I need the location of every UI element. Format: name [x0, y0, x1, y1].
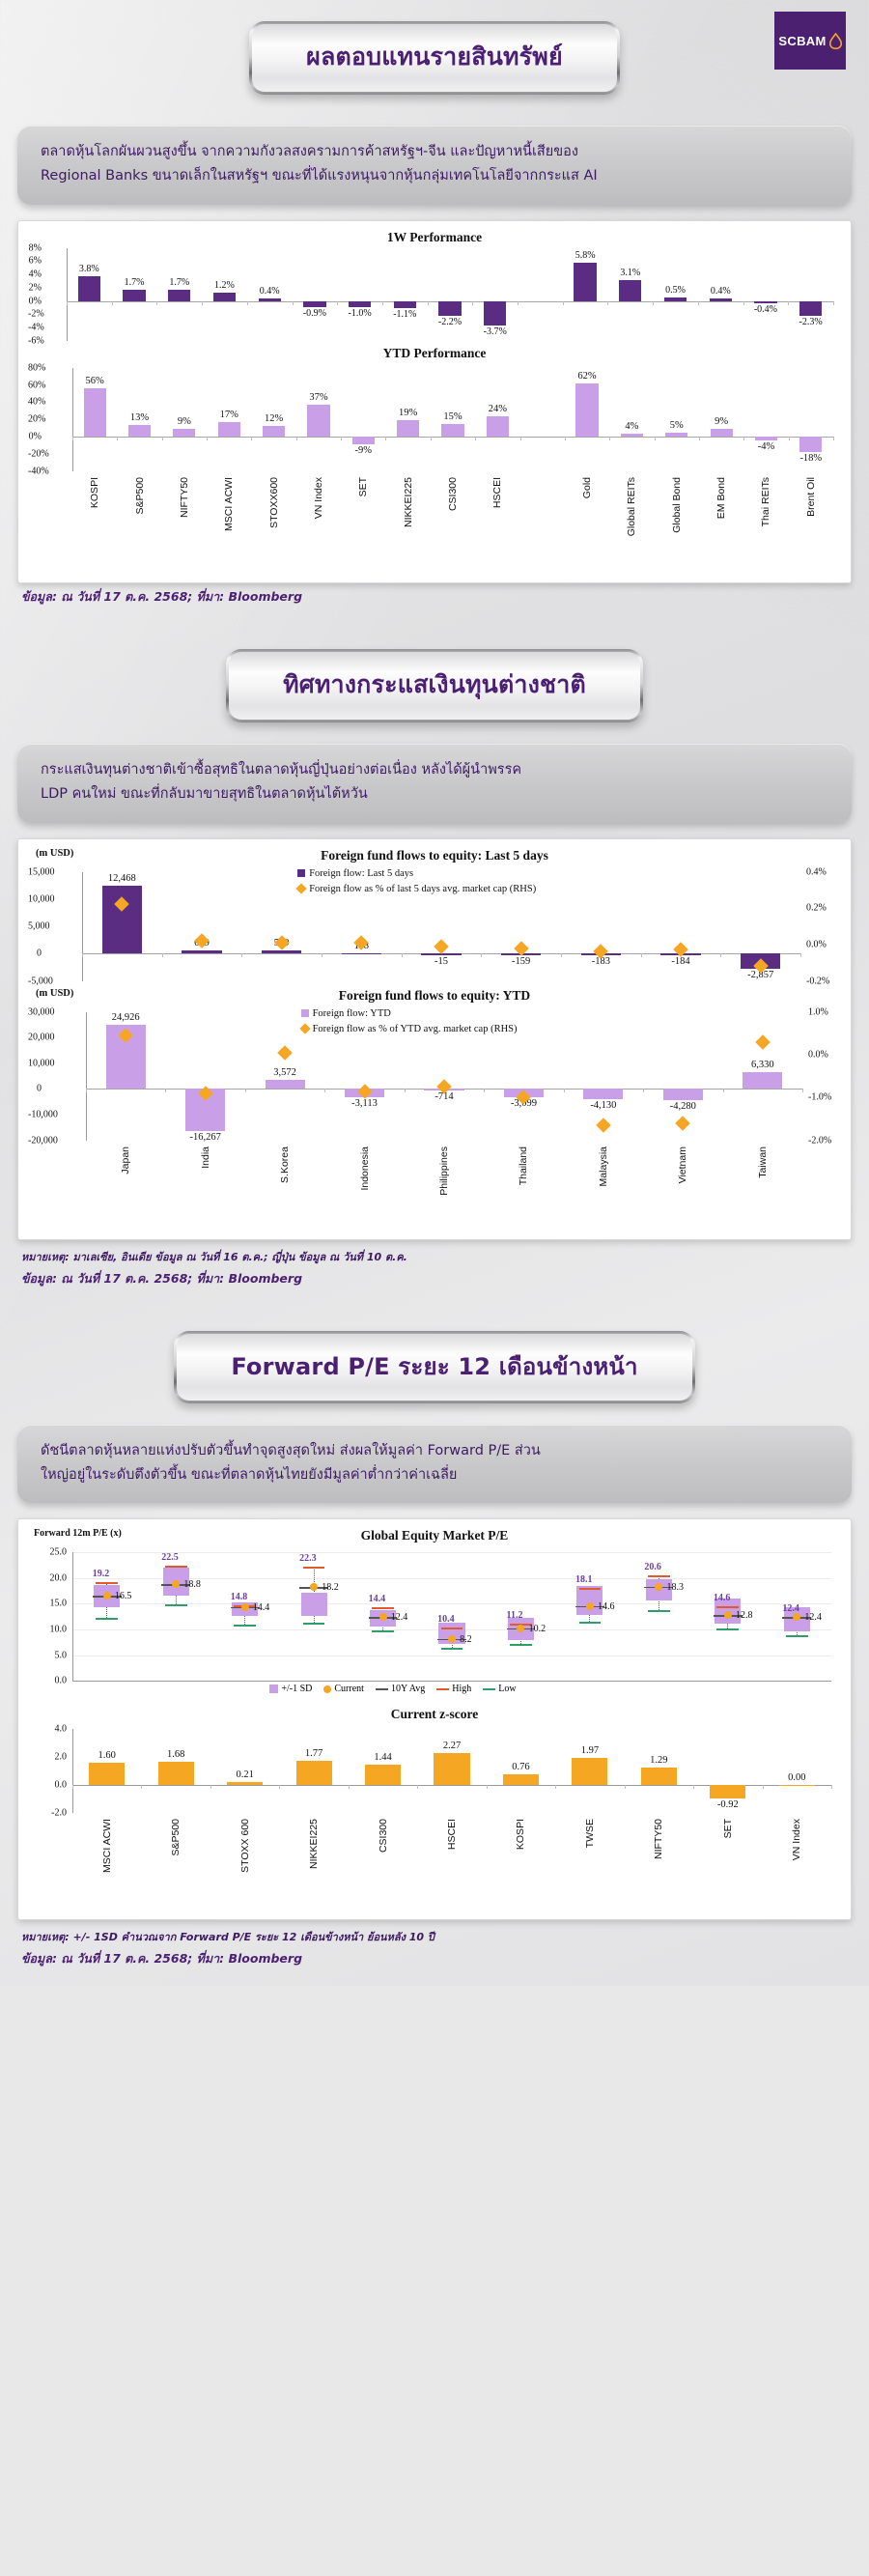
pe-legend: +/-1 SDCurrent10Y AvgHighLow [269, 1684, 516, 1694]
chart-flows-ytd-ytick-0: 30,000 [28, 1006, 47, 1017]
pe-low-4 [372, 1630, 394, 1632]
pe-high-1 [165, 1566, 187, 1568]
chart-perf-1w-yaxis-line [67, 248, 68, 341]
chart-perf-1w-title: 1W Performance [28, 230, 841, 245]
chart-flows-ytd-xlabel-8: Taiwan [757, 1146, 769, 1178]
chart-perf-ytd-barlabel-1: 13% [130, 412, 149, 423]
chart-flows-ytd-diamond-2 [277, 1045, 293, 1061]
chart-perf-1w-bar-8 [438, 301, 461, 316]
chart-flows-5d-tick-0 [82, 953, 83, 957]
chart-perf-ytd-ytick-5: -20% [28, 448, 47, 459]
chart-perf-1w-tick-8 [428, 301, 429, 305]
chart-perf-1w-bar-6 [349, 301, 371, 308]
section1-chart-card: 1W Performance8%6%4%2%0%-2%-4%-6%3.8%1.7… [17, 220, 852, 583]
chart-flows-ytd-xlabel-5: Thailand [518, 1146, 529, 1185]
chart-flows-5d-y2tick-0: 0.4% [806, 866, 827, 877]
chart-flows-5d-tick-5 [481, 953, 482, 957]
chart-perf-ytd-barlabel-9: 24% [489, 404, 507, 414]
chart-perf-ytd-ytick-0: 80% [28, 362, 47, 373]
pe-legend-item-0: +/-1 SD [269, 1684, 312, 1694]
chart-perf-ytd-xlabel-14: EM Bond [715, 477, 727, 519]
chart-perf-1w-barlabel-15: -0.4% [754, 304, 777, 315]
chart-perf-1w-barlabel-2: 1.7% [169, 277, 189, 288]
chart-perf-1w-bar-15 [754, 301, 776, 304]
flame-icon [829, 33, 842, 49]
chart-flows-5d-tick-6 [561, 953, 562, 957]
chart-perf-1w-tick-0 [67, 301, 68, 305]
pe-current-label-5: 8.2 [460, 1634, 472, 1645]
chart-perf-ytd-bar-9 [487, 416, 509, 437]
chart-perf-ytd-bar-12 [621, 434, 643, 438]
chart-perf-ytd-barlabel-16: -18% [799, 453, 822, 464]
pe-high-label-1: 22.5 [161, 1552, 179, 1563]
chart-perf-ytd-tick-14 [699, 437, 700, 440]
chart-perf-ytd-barlabel-11: 62% [577, 371, 596, 382]
chart-flows-ytd-tick-7 [643, 1089, 644, 1092]
pe-low-7 [579, 1622, 602, 1624]
chart-perf-1w-bar-9 [484, 301, 506, 326]
pe-low-5 [441, 1648, 463, 1650]
pe-low-6 [510, 1644, 532, 1646]
pe-current-4 [379, 1613, 387, 1621]
chart-flows-ytd-barlabel-2: 3,572 [273, 1067, 296, 1078]
chart-flows-5d-legend-marker-0 [297, 869, 305, 877]
pe-legend-item-3: High [436, 1684, 471, 1694]
chart-flows-ytd-diamond-6 [596, 1118, 611, 1133]
chart-perf-1w-bar-7 [394, 301, 416, 309]
chart-global-equity-pe: Forward 12m P/E (x)Global Equity Market … [28, 1527, 841, 1706]
chart-perf-1w-ytick-2: 4% [28, 269, 47, 280]
pe-high-label-9: 14.6 [714, 1593, 731, 1603]
z-ytick-0: 4.0 [28, 1724, 67, 1735]
chart-perf-1w-tick-12 [607, 301, 608, 305]
pe-grid-4 [72, 1656, 831, 1656]
chart-perf-ytd-xlabel-4: STOXX600 [268, 477, 280, 528]
z-tick-3 [279, 1785, 280, 1789]
chart-perf-1w-tick-13 [653, 301, 654, 305]
z-xlabel-3: NIKKEI225 [308, 1819, 320, 1869]
chart-perf-1w-tick-7 [382, 301, 383, 305]
chart-perf-ytd-tick-13 [655, 437, 656, 440]
chart-perf-1w-barlabel-8: -2.2% [438, 317, 462, 327]
chart-perf-1w-tick-1 [112, 301, 113, 305]
chart-flows-5d-yaxis-line [82, 872, 83, 981]
chart-perf-1w-tick-2 [156, 301, 157, 305]
pe-high-label-6: 11.2 [507, 1610, 523, 1621]
z-barlabel-3: 1.77 [305, 1748, 322, 1759]
chart-flows-5d-barlabel-4: -15 [434, 956, 448, 967]
section3-intro: ดัชนีตลาดหุ้นหลายแห่งปรับตัวขึ้นทำจุดสูง… [17, 1425, 852, 1504]
pe-current-7 [586, 1602, 594, 1610]
pe-legend-label-2: 10Y Avg [391, 1684, 425, 1694]
chart-flows-ytd-legend-marker-1 [299, 1023, 310, 1033]
chart-flows-ytd-tick-3 [324, 1089, 325, 1092]
chart-perf-ytd-barlabel-5: 37% [309, 392, 327, 403]
chart-perf-1w-barlabel-9: -3.7% [484, 326, 507, 337]
chart-perf-ytd-barlabel-8: 15% [443, 411, 462, 422]
section3-source: ข้อมูล: ณ วันที่ 17 ต.ค. 2568; ที่มา: Bl… [21, 1949, 848, 1968]
pe-legend-item-4: Low [483, 1684, 516, 1694]
section1-intro-line2: Regional Banks ขนาดเล็กในสหรัฐฯ ขณะที่ได… [41, 164, 828, 188]
chart-perf-ytd-xlabel-5: VN Index [313, 477, 324, 519]
chart-perf-ytd-ytick-3: 20% [28, 414, 47, 425]
chart-perf-ytd-xlabel-6: SET [357, 477, 369, 496]
chart-perf-ytd-xlabel-8: CSI300 [447, 477, 459, 511]
chart-flows-ytd-tick-5 [484, 1089, 485, 1092]
pe-box-3 [301, 1593, 327, 1616]
chart-flows-5d-tick-4 [402, 953, 403, 957]
chart-flows-ytd-y2tick-1: 0.0% [808, 1049, 828, 1060]
z-tick-6 [487, 1785, 488, 1789]
chart-flows-ytd-tick-4 [405, 1089, 406, 1092]
chart-flows-5d-diamond-4 [434, 939, 449, 954]
chart-perf-1w-ytick-5: -2% [28, 309, 47, 320]
chart-flows-ytd-xlabel-0: Japan [120, 1146, 131, 1175]
chart-perf-ytd-xlabel-7: NIKKEI225 [403, 477, 414, 527]
chart-perf-1w-bar-13 [664, 297, 687, 300]
chart-flows-ytd-tick-8 [723, 1089, 724, 1092]
pe-ytick-2: 15.0 [28, 1599, 67, 1609]
pe-ytick-0: 25.0 [28, 1547, 67, 1558]
pe-ytick-5: 0.0 [28, 1676, 67, 1686]
chart-perf-ytd-tick-15 [743, 437, 744, 440]
pe-legend-label-1: Current [334, 1684, 364, 1694]
z-tick-8 [625, 1785, 626, 1789]
chart-flows-ytd-diamond-8 [755, 1034, 771, 1050]
chart-flows-5d-tick-9 [800, 953, 801, 957]
chart-flows-5d-tick-8 [720, 953, 721, 957]
z-xlabel-4: CSI300 [378, 1819, 389, 1853]
chart-flows-ytd-y2tick-2: -1.0% [808, 1092, 831, 1103]
chart-perf-ytd-bar-15 [755, 437, 777, 440]
z-xlabel-7: TWSE [584, 1819, 596, 1848]
z-bar-6 [503, 1774, 539, 1785]
pe-current-label-4: 12.4 [391, 1612, 408, 1623]
chart-flows-ytd-bar-7 [663, 1089, 703, 1099]
chart-perf-1w-barlabel-14: 0.4% [711, 286, 731, 297]
chart-perf-1w-bar-14 [710, 298, 732, 301]
chart-flows-ytd-yaxis-line [86, 1012, 87, 1141]
pe-current-label-10: 12.4 [804, 1612, 822, 1623]
chart-perf-ytd-xlabel-9: HSCEI [491, 477, 503, 508]
z-barlabel-9: -0.92 [717, 1799, 739, 1810]
z-bar-5 [434, 1753, 469, 1785]
chart-flows-ytd-tick-0 [86, 1089, 87, 1092]
chart-flows-ytd-xlabel-6: Malaysia [598, 1146, 609, 1186]
pe-legend-marker-0 [269, 1684, 278, 1693]
chart-flows-ytd-barlabel-7: -4,280 [670, 1101, 696, 1112]
section2-title: ทิศทางกระแสเงินทุนต่างชาติ [283, 665, 586, 704]
z-tick-11 [831, 1785, 832, 1789]
chart-perf-ytd-xlabel-16: Brent Oil [805, 477, 817, 517]
chart-perf-ytd-xlabel-0: KOSPI [89, 477, 100, 508]
pe-legend-marker-4 [483, 1688, 495, 1690]
chart-perf-ytd-tick-8 [431, 437, 432, 440]
chart-perf-ytd-xlabel-15: Thai REITs [760, 477, 771, 526]
pe-current-9 [724, 1611, 732, 1619]
chart-perf-1w-bar-3 [213, 293, 236, 300]
chart-perf-1w-barlabel-3: 1.2% [214, 280, 235, 291]
pe-current-label-1: 18.8 [183, 1579, 201, 1590]
pe-high-label-8: 20.6 [644, 1562, 661, 1572]
pe-current-label-0: 16.5 [115, 1591, 132, 1601]
chart-perf-ytd-bar-16 [799, 437, 822, 452]
chart-perf-1w-barlabel-1: 1.7% [125, 277, 145, 288]
pe-high-label-10: 12.4 [782, 1603, 799, 1614]
chart-flows-5d-y2tick-2: 0.0% [806, 939, 827, 949]
chart-flows-ytd-bar-2 [266, 1080, 305, 1090]
z-tick-0 [72, 1785, 73, 1789]
pe-high-9 [716, 1606, 739, 1608]
section2-note: หมายเหตุ: มาเลเซีย, อินเดีย ข้อมูล ณ วัน… [21, 1248, 848, 1265]
chart-perf-1w-barlabel-5: -0.9% [303, 308, 326, 319]
chart-perf-ytd-bar-0 [84, 388, 106, 437]
chart-perf-ytd-ytick-4: 0% [28, 432, 47, 442]
chart-flows-ytd-tick-9 [802, 1089, 803, 1092]
chart-perf-ytd-tick-2 [162, 437, 163, 440]
z-bar-1 [158, 1762, 194, 1785]
chart-flows-ytd-ytick-4: -10,000 [28, 1109, 47, 1119]
chart-perf-ytd-tick-1 [117, 437, 118, 440]
pe-high-label-0: 19.2 [93, 1569, 110, 1579]
chart-perf-1w-ytick-3: 2% [28, 282, 47, 293]
chart-perf-ytd-barlabel-4: 12% [265, 413, 283, 424]
chart-flows-ytd-tick-1 [165, 1089, 166, 1092]
chart-flows-5d-ytick-3: 0 [28, 948, 47, 959]
section1-title: ผลตอบแทนรายสินทรัพย์ [306, 38, 563, 76]
chart-perf-1w-tick-14 [698, 301, 699, 305]
chart-perf-ytd-bar-1 [128, 425, 151, 437]
pe-high-5 [441, 1628, 463, 1629]
pe-yaxis-line [72, 1552, 73, 1681]
chart-perf-ytd-barlabel-14: 9% [715, 416, 728, 427]
z-barlabel-1: 1.68 [167, 1749, 184, 1760]
z-bar-2 [227, 1782, 263, 1785]
chart-perf-ytd-tick-0 [72, 437, 73, 440]
z-barlabel-2: 0.21 [236, 1769, 253, 1780]
chart-flows-ytd-xlabel-1: India [200, 1146, 211, 1169]
section1-title-plaque: ผลตอบแทนรายสินทรัพย์ [249, 21, 620, 95]
chart-flows-5d-ytick-0: 15,000 [28, 866, 47, 877]
pe-current-label-3: 18.2 [322, 1582, 339, 1593]
chart-perf-1w-bar-2 [168, 290, 190, 301]
chart-flows-ytd-legend-1: Foreign flow as % of YTD avg. market cap… [301, 1024, 518, 1034]
chart-perf-1w-ytick-6: -4% [28, 323, 47, 333]
chart-perf-1w-barlabel-11: 5.8% [575, 250, 596, 261]
chart-perf-ytd-barlabel-0: 56% [86, 376, 104, 386]
z-barlabel-5: 2.27 [443, 1741, 461, 1751]
section1-intro: ตลาดหุ้นโลกผันผวนสูงขึ้น จากความกังวลสงค… [17, 126, 852, 205]
section2-intro-line1: กระแสเงินทุนต่างชาติเข้าซื้อสุทธิในตลาดห… [41, 758, 828, 782]
chart-flows-ytd-xlabel-7: Vietnam [677, 1146, 688, 1183]
chart-perf-ytd-tick-3 [207, 437, 208, 440]
z-bar-7 [572, 1758, 607, 1786]
pe-current-5 [448, 1635, 456, 1643]
chart-perf-1w-bar-4 [259, 298, 281, 301]
chart-perf-ytd-barlabel-2: 9% [178, 416, 191, 427]
chart-flows-ytd-barlabel-6: -4,130 [590, 1100, 616, 1111]
z-bar-8 [641, 1768, 677, 1786]
chart-flows-ytd-legend-label-1: Foreign flow as % of YTD avg. market cap… [313, 1024, 518, 1034]
chart-flows-ytd-xlabel-4: Philippines [438, 1146, 450, 1196]
z-ytick-3: -2.0 [28, 1808, 67, 1819]
chart-perf-1w-barlabel-6: -1.0% [348, 308, 371, 319]
pe-low-2 [234, 1625, 256, 1627]
chart-perf-ytd-bar-7 [397, 420, 419, 437]
section2-intro: กระแสเงินทุนต่างชาติเข้าซื้อสุทธิในตลาดห… [17, 744, 852, 823]
chart-flows-5d-title: Foreign fund flows to equity: Last 5 day… [28, 848, 841, 863]
pe-low-1 [165, 1604, 187, 1606]
section3-title: Forward P/E ระยะ 12 เดือนข้างหน้า [231, 1347, 637, 1385]
chart-flows-5d-ytick-4: -5,000 [28, 976, 47, 986]
pe-legend-marker-1 [323, 1685, 331, 1693]
chart-perf-ytd-yaxis-line [72, 368, 73, 471]
pe-ytick-1: 20.0 [28, 1572, 67, 1583]
chart-flows-ytd-legend-label-0: Foreign flow: YTD [313, 1008, 391, 1019]
chart-flows-ytd-title: Foreign fund flows to equity: YTD [28, 988, 841, 1004]
z-tick-1 [141, 1785, 142, 1789]
chart-perf-ytd-xlabel-12: Global REITs [626, 477, 637, 536]
pe-high-7 [579, 1588, 602, 1590]
section3-intro-line1: ดัชนีตลาดหุ้นหลายแห่งปรับตัวขึ้นทำจุดสูง… [41, 1439, 828, 1463]
pe-current-label-6: 10.2 [529, 1624, 547, 1634]
chart-flows-5d-ytick-1: 10,000 [28, 893, 47, 904]
chart-perf-ytd-tick-4 [251, 437, 252, 440]
z-tick-10 [763, 1785, 764, 1789]
chart-ytd-performance: YTD Performance80%60%40%20%0%-20%-40%56%… [28, 345, 841, 577]
chart-perf-1w-ytick-0: 8% [28, 242, 47, 253]
section3-intro-line2: ใหญ่อยู่ในระดับตึงตัวขึ้น ขณะที่ตลาดหุ้น… [41, 1463, 828, 1487]
pe-legend-marker-2 [376, 1688, 388, 1690]
chart-flows-ytd-diamond-7 [676, 1116, 691, 1131]
chart-perf-1w-bar-0 [78, 276, 100, 301]
chart-flows-ytd-ytick-2: 10,000 [28, 1058, 47, 1068]
pe-legend-label-4: Low [498, 1684, 516, 1694]
pe-current-label-2: 14.4 [253, 1602, 270, 1613]
chart-flows-ytd-y2tick-3: -2.0% [808, 1135, 831, 1146]
chart-perf-ytd-tick-6 [341, 437, 342, 440]
chart-flows-5d-legend-marker-1 [296, 883, 307, 893]
chart-perf-1w-ytick-1: 6% [28, 256, 47, 267]
chart-foreign-flows-ytd: (m USD)Foreign fund flows to equity: YTD… [28, 987, 841, 1233]
chart-perf-ytd-ytick-6: -40% [28, 466, 47, 476]
chart-perf-ytd-ytick-2: 40% [28, 397, 47, 408]
chart-flows-ytd-xlabel-3: Indonesia [359, 1146, 371, 1191]
pe-high-label-3: 22.3 [299, 1553, 317, 1564]
chart-perf-1w-ytick-4: 0% [28, 296, 47, 306]
pe-low-3 [303, 1623, 325, 1625]
pe-current-label-8: 18.3 [667, 1582, 685, 1593]
chart-flows-5d-y2tick-1: 0.2% [806, 903, 827, 914]
z-tick-7 [555, 1785, 556, 1789]
section2-title-plaque: ทิศทางกระแสเงินทุนต่างชาติ [226, 649, 643, 722]
chart-perf-1w-tick-10 [518, 301, 519, 305]
chart-flows-ytd-legend-marker-0 [301, 1009, 309, 1017]
infographic-page: SCBAM ผลตอบแทนรายสินทรัพย์ ตลาดหุ้นโลกผั… [0, 0, 869, 1986]
header-bar: SCBAM ผลตอบแทนรายสินทรัพย์ [0, 0, 869, 104]
chart-flows-ytd-ytick-1: 20,000 [28, 1033, 47, 1043]
z-barlabel-10: 0.00 [788, 1772, 805, 1783]
section3-title-plaque: Forward P/E ระยะ 12 เดือนข้างหน้า [174, 1331, 694, 1403]
chart-current-zscore: Current z-score4.02.00.0-2.01.60MSCI ACW… [28, 1706, 841, 1913]
chart-perf-ytd-bar-11 [575, 383, 598, 437]
z-tick-5 [417, 1785, 418, 1789]
z-barlabel-6: 0.76 [512, 1762, 529, 1772]
pe-low-8 [648, 1610, 670, 1612]
chart-perf-ytd-bar-3 [218, 422, 240, 437]
z-barlabel-0: 1.60 [98, 1750, 116, 1761]
chart-flows-5d-tick-7 [641, 953, 642, 957]
chart-flows-ytd-barlabel-0: 24,926 [112, 1012, 140, 1023]
chart-perf-ytd-bar-8 [441, 424, 463, 437]
chart-perf-ytd-xlabel-11: Gold [581, 477, 593, 498]
chart-perf-ytd-bar-13 [665, 433, 687, 437]
section1-source: ข้อมูล: ณ วันที่ 17 ต.ค. 2568; ที่มา: Bl… [21, 587, 848, 607]
pe-ytick-4: 5.0 [28, 1650, 67, 1660]
chart-flows-5d-barlabel-5: -159 [512, 956, 530, 967]
chart-perf-ytd-bar-4 [263, 426, 285, 437]
z-bar-10 [779, 1785, 815, 1786]
z-barlabel-7: 1.97 [581, 1745, 599, 1756]
chart-perf-1w-barlabel-12: 3.1% [620, 268, 640, 278]
chart-perf-1w-bar-1 [123, 290, 145, 301]
chart-perf-ytd-barlabel-12: 4% [625, 421, 638, 432]
chart-perf-ytd-barlabel-6: -9% [355, 445, 373, 456]
chart-perf-ytd-xlabel-3: MSCI ACWI [223, 477, 235, 531]
chart-flows-5d-tick-3 [322, 953, 322, 957]
z-xlabel-6: KOSPI [515, 1819, 526, 1850]
chart-perf-1w-barlabel-13: 0.5% [665, 285, 686, 296]
chart-flows-ytd-bar-6 [583, 1089, 623, 1099]
chart-flows-ytd-tick-6 [564, 1089, 565, 1092]
chart-flows-5d-y2tick-3: -0.2% [806, 976, 829, 986]
z-ytick-1: 2.0 [28, 1752, 67, 1763]
chart-perf-ytd-barlabel-7: 19% [399, 408, 417, 418]
z-xlabel-2: STOXX 600 [239, 1819, 251, 1873]
z-barlabel-8: 1.29 [650, 1755, 667, 1766]
z-title: Current z-score [28, 1707, 841, 1722]
chart-flows-5d-bar-0 [102, 886, 142, 953]
logo-text: SCBAM [778, 34, 826, 48]
chart-perf-1w-bar-11 [574, 263, 596, 301]
chart-perf-ytd-title: YTD Performance [28, 346, 841, 361]
chart-perf-1w-bar-5 [303, 301, 325, 307]
chart-perf-ytd-tick-7 [385, 437, 386, 440]
chart-perf-1w-tick-5 [293, 301, 294, 305]
pe-xaxis-line [72, 1681, 831, 1682]
chart-perf-ytd-tick-17 [833, 437, 834, 440]
chart-flows-5d-legend-1: Foreign flow as % of last 5 days avg. ma… [297, 884, 536, 894]
chart-perf-1w-tick-17 [833, 301, 834, 305]
chart-flows-ytd-xlabel-2: S.Korea [279, 1146, 291, 1183]
pe-legend-item-1: Current [323, 1684, 364, 1694]
chart-perf-ytd-tick-16 [789, 437, 790, 440]
chart-flows-5d-tick-2 [241, 953, 242, 957]
chart-1w-performance: 1W Performance8%6%4%2%0%-2%-4%-6%3.8%1.7… [28, 229, 841, 345]
chart-flows-5d-bar-3 [342, 953, 381, 955]
pe-high-label-5: 10.4 [437, 1614, 455, 1625]
chart-perf-1w-barlabel-16: -2.3% [799, 317, 823, 327]
pe-high-3 [303, 1567, 325, 1569]
chart-perf-ytd-xlabel-13: Global Bond [671, 477, 683, 533]
chart-perf-ytd-barlabel-15: -4% [758, 441, 775, 452]
chart-perf-ytd-zeroline [72, 437, 833, 438]
pe-high-label-2: 14.8 [231, 1592, 248, 1602]
chart-perf-1w-tick-11 [563, 301, 564, 305]
chart-flows-ytd-ytick-3: 0 [28, 1084, 47, 1094]
pe-high-0 [96, 1582, 118, 1584]
section1-intro-line1: ตลาดหุ้นโลกผันผวนสูงขึ้น จากความกังวลสงค… [41, 140, 828, 164]
